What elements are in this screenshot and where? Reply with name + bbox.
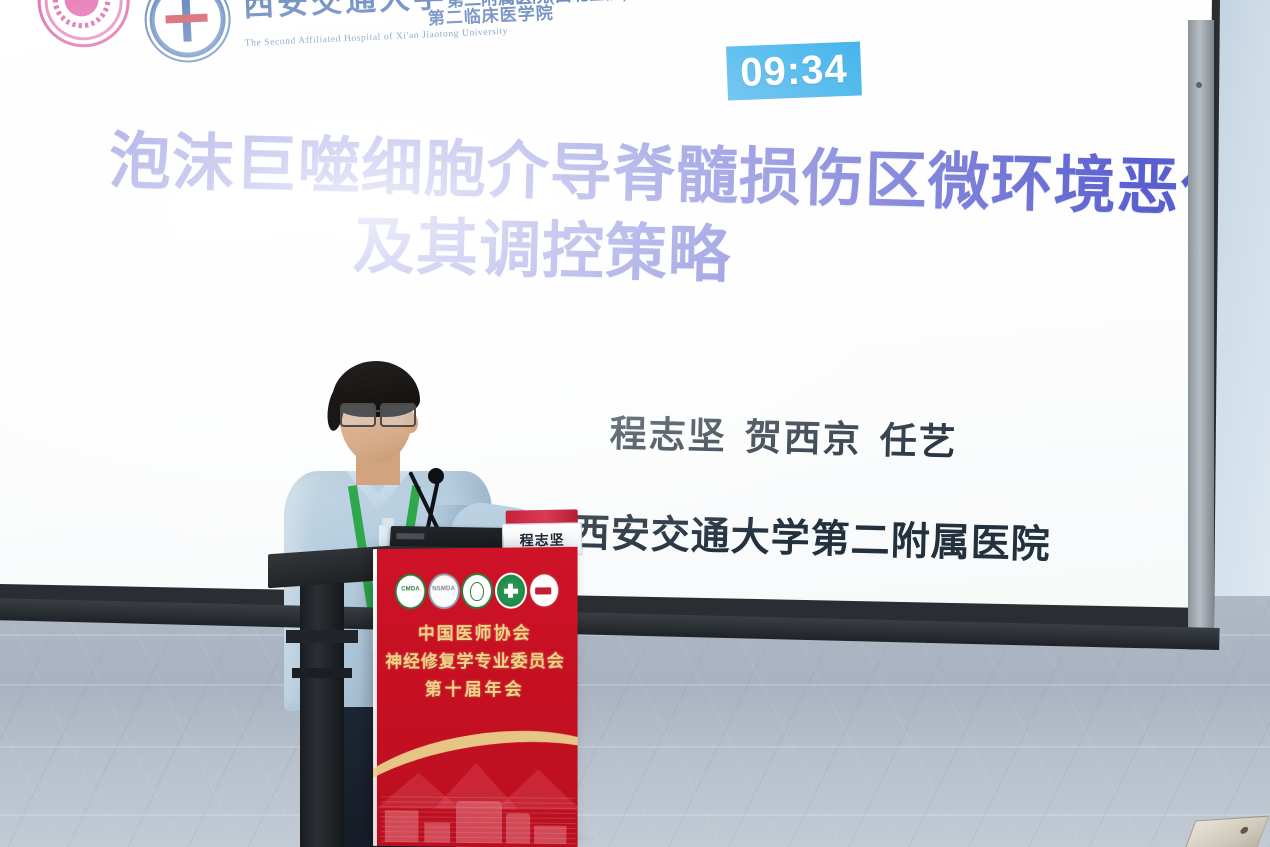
- green-cross-logo: [494, 572, 526, 608]
- nsmda-logo: NSMDA: [428, 573, 460, 609]
- eyeglasses-icon: [340, 403, 422, 423]
- projection-screen-surface: 西安交通大学第二附属医院(西北医院) 第二临床医学院 The Second Af…: [0, 0, 1212, 628]
- author-name-1: 程志坚: [609, 414, 727, 458]
- eyeglass-lens-right: [380, 403, 416, 427]
- eyeglass-bridge: [372, 410, 380, 412]
- pink-gear-seal-logo: [36, 0, 132, 49]
- author-name-3: 任艺: [879, 421, 958, 464]
- slide-authors: 程志坚贺西京任艺: [609, 403, 958, 466]
- red-seal-bar: [535, 587, 551, 594]
- clock-time: 09:34: [740, 46, 849, 95]
- university-name-block: 西安交通大学第二附属医院(西北医院) 第二临床医学院 The Second Af…: [242, 0, 715, 49]
- bottle-cap: [382, 518, 394, 526]
- podium-stand: [300, 578, 344, 847]
- floor-seam: [0, 746, 1270, 748]
- floor-seam: [0, 684, 1270, 686]
- clock-overlay: 09:34: [726, 41, 862, 100]
- banner-line-3: 第十届年会: [373, 676, 578, 704]
- cmda-logo-label: CMDA: [397, 586, 425, 592]
- slide-affiliation: 西安交通大学第二附属医院: [570, 502, 1051, 570]
- podium-bracket: [292, 668, 352, 678]
- green-oval-logo: [461, 573, 493, 609]
- screen-right-post: [1188, 20, 1214, 650]
- slide-header: 西安交通大学第二附属医院(西北医院) 第二临床医学院 The Second Af…: [27, 0, 732, 112]
- red-seal-logo: [528, 572, 560, 608]
- oval-inner-mark: [470, 582, 484, 601]
- banner-text-block: 中国医师协会 神经修复学专业委员会 第十届年会: [373, 619, 578, 704]
- projection-screen: 西安交通大学第二附属医院(西北医院) 第二临床医学院 The Second Af…: [0, 0, 1212, 628]
- blue-hospital-emblem-logo: [143, 0, 233, 64]
- floor-plate-pin: [1239, 827, 1249, 834]
- slide-title: 泡沫巨噬细胞介导脊髓损伤区微环境恶化 及其调控策略: [106, 123, 1170, 308]
- building-window-rows: [381, 796, 576, 844]
- laptop-logo: [396, 533, 424, 539]
- banner-logo-row: CMDA NSMDA: [395, 573, 561, 608]
- floor-seam: [0, 814, 1270, 816]
- photo-scene: 西安交通大学第二附属医院(西北医院) 第二临床医学院 The Second Af…: [0, 0, 1270, 847]
- screw-icon: [1196, 82, 1202, 88]
- cross-icon: [503, 584, 517, 598]
- banner-line-1: 中国医师协会: [373, 619, 578, 648]
- cmda-logo: CMDA: [395, 573, 427, 609]
- nsmda-logo-label: NSMDA: [430, 586, 458, 592]
- author-name-2: 贺西京: [744, 418, 862, 462]
- podium-bracket: [286, 630, 358, 643]
- emblem-mark-icon: [161, 0, 211, 46]
- floor-access-plate: [1183, 816, 1270, 847]
- presentation-slide: 西安交通大学第二附属医院(西北医院) 第二临床医学院 The Second Af…: [0, 0, 1212, 620]
- banner-cityscape-graphic: [381, 751, 576, 845]
- banner-line-2: 神经修复学专业委员会: [373, 648, 578, 677]
- podium-banner: CMDA NSMDA 中国医师协会 神经修复学专业委员会 第十届年会: [373, 547, 578, 847]
- eyeglass-lens-left: [340, 403, 376, 427]
